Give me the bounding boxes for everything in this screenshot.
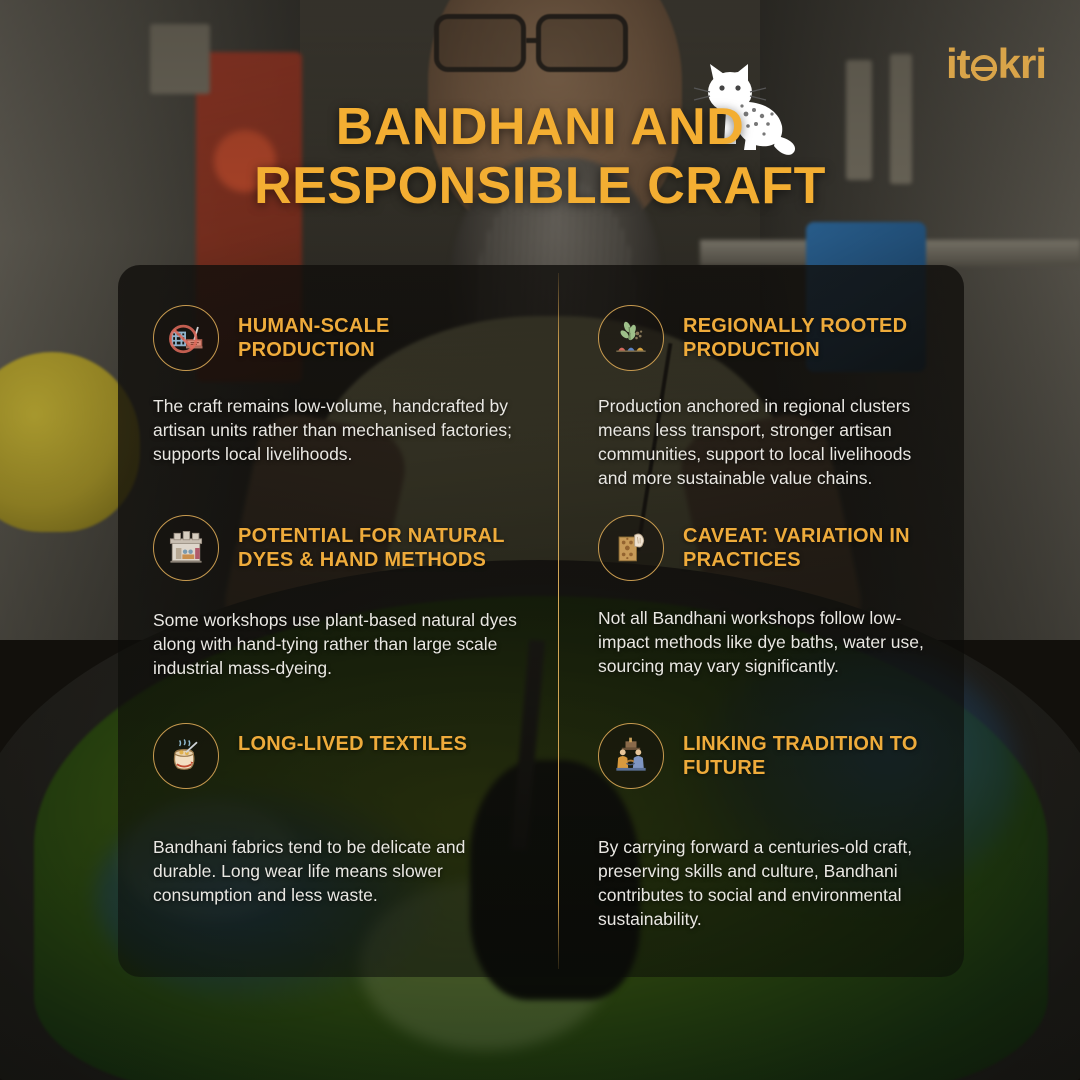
card-body: By carrying forward a centuries-old craf…: [598, 835, 944, 932]
card-header: REGIONALLY ROOTED PRODUCTION: [598, 303, 944, 371]
card-title: LONG-LIVED TEXTILES: [238, 721, 467, 757]
logo-text-part-2: kri: [998, 40, 1046, 87]
card-long-lived-textiles: LONG-LIVED TEXTILES Bandhani fabrics ten…: [118, 683, 558, 977]
card-body: The craft remains low-volume, handcrafte…: [153, 394, 530, 466]
card-title: REGIONALLY ROOTED PRODUCTION: [683, 303, 944, 362]
card-header: HUMAN-SCALE PRODUCTION: [153, 303, 530, 371]
card-body: Some workshops use plant-based natural d…: [153, 608, 530, 680]
card-body: Not all Bandhani workshops follow low-im…: [598, 606, 944, 678]
card-title: POTENTIAL FOR NATURAL DYES & HAND METHOD…: [238, 513, 530, 572]
leaves-and-dye-powders-icon: [598, 305, 664, 371]
card-human-scale-production: HUMAN-SCALE PRODUCTION The craft remains…: [118, 265, 558, 475]
title-line-2: RESPONSIBLE CRAFT: [0, 157, 1080, 216]
card-title: HUMAN-SCALE PRODUCTION: [238, 303, 530, 362]
card-header: CAVEAT: VARIATION IN PRACTICES: [598, 513, 944, 581]
content-panel: HUMAN-SCALE PRODUCTION The craft remains…: [118, 265, 964, 977]
itokri-logo[interactable]: itkri: [946, 38, 1050, 90]
card-header: LONG-LIVED TEXTILES: [153, 721, 530, 789]
cards-grid: HUMAN-SCALE PRODUCTION The craft remains…: [118, 265, 964, 977]
card-regionally-rooted-production: REGIONALLY ROOTED PRODUCTION Production …: [558, 265, 964, 475]
logo-basket-icon: [971, 55, 997, 81]
card-body: Bandhani fabrics tend to be delicate and…: [153, 835, 530, 907]
card-caveat-variation-in-practices: CAVEAT: VARIATION IN PRACTICES Not all B…: [558, 475, 964, 683]
page-title: BANDHANI AND RESPONSIBLE CRAFT: [0, 98, 1080, 217]
title-line-1: BANDHANI AND: [0, 98, 1080, 157]
card-header: LINKING TRADITION TO FUTURE: [598, 721, 944, 789]
two-artisans-working-icon: [598, 723, 664, 789]
hand-holding-fabric-swatch-icon: [598, 515, 664, 581]
card-title: CAVEAT: VARIATION IN PRACTICES: [683, 513, 944, 572]
card-header: POTENTIAL FOR NATURAL DYES & HAND METHOD…: [153, 513, 530, 581]
logo-text-part-1: it: [946, 40, 970, 87]
card-linking-tradition-to-future: LINKING TRADITION TO FUTURE By carrying …: [558, 683, 964, 977]
no-factory-icon: [153, 305, 219, 371]
artisan-workshop-building-icon: [153, 515, 219, 581]
steaming-dye-pot-icon: [153, 723, 219, 789]
card-title: LINKING TRADITION TO FUTURE: [683, 721, 944, 780]
card-natural-dyes-hand-methods: POTENTIAL FOR NATURAL DYES & HAND METHOD…: [118, 475, 558, 683]
